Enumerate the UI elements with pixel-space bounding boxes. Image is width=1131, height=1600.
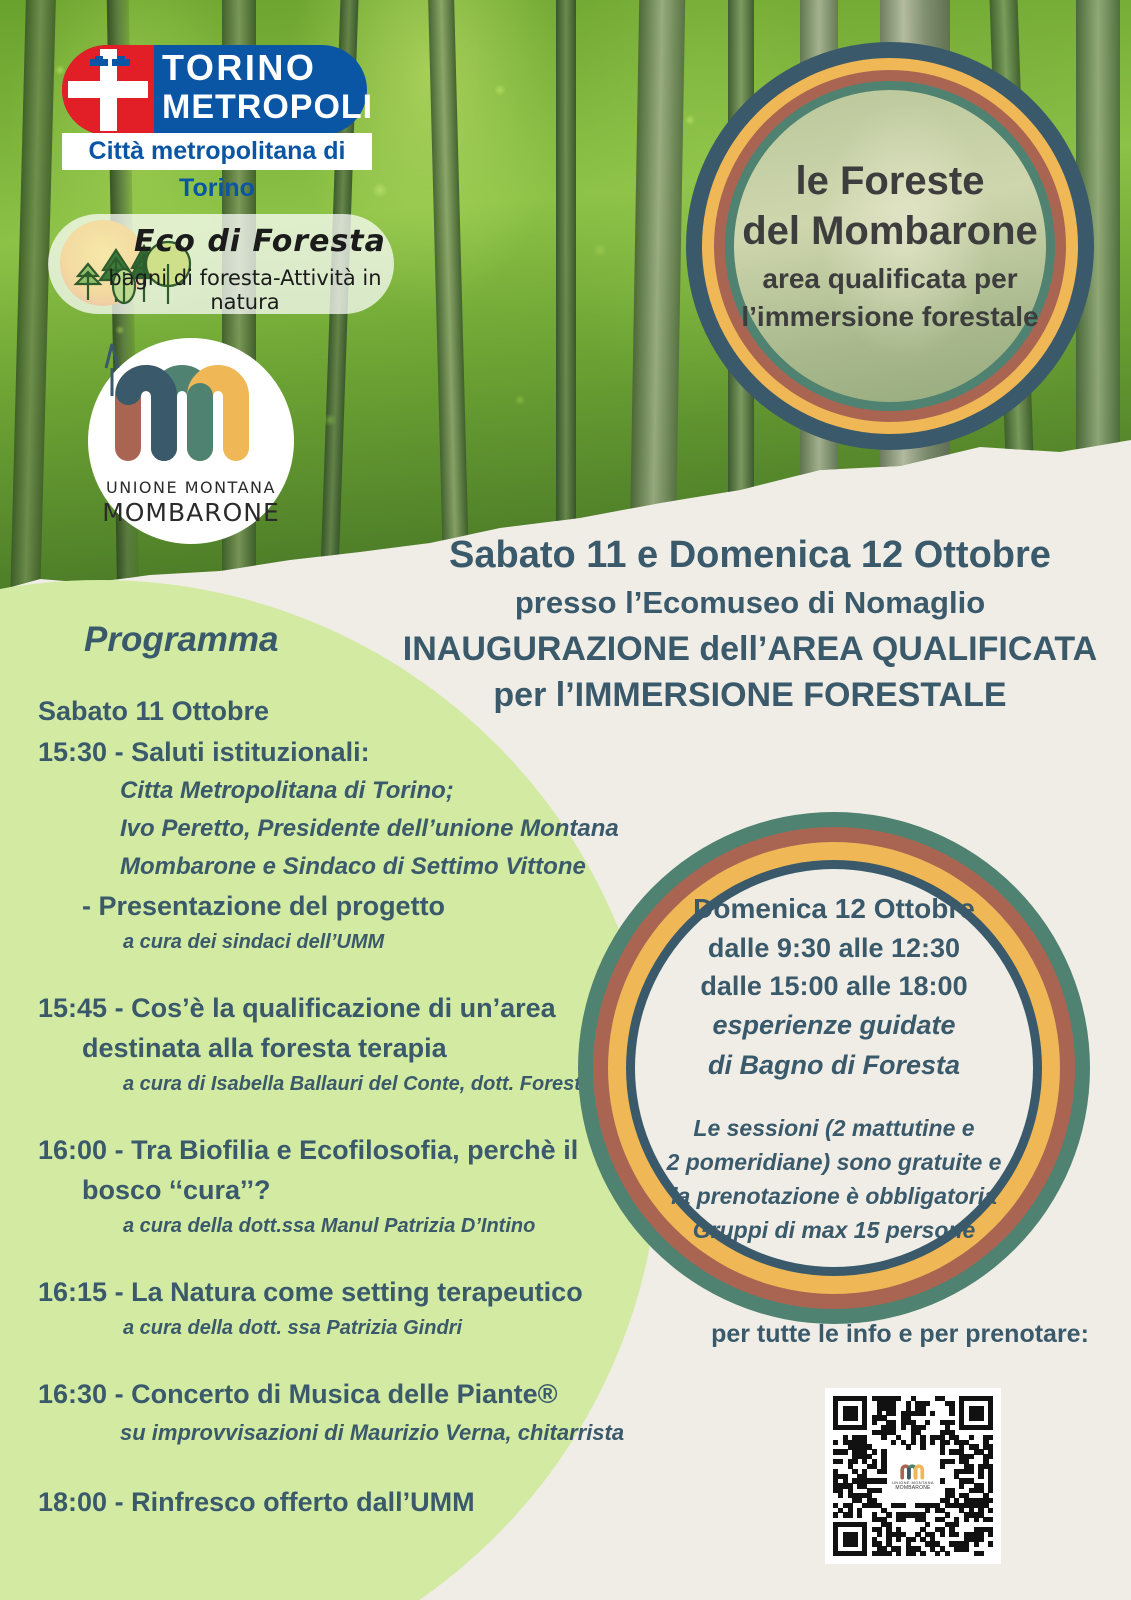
item-dash: - <box>115 1487 132 1517</box>
item-title: Saluti istituzionali: <box>131 737 370 767</box>
qr-code-matrix: UNIONE MONTANA MOMBARONE <box>833 1396 993 1556</box>
umm-monogram-icon <box>88 338 294 478</box>
sunday-core: Domenica 12 Ottobre dalle 9:30 alle 12:3… <box>635 869 1033 1267</box>
logo-torino-metropoli: TORINO METROPOLI Città metropolitana di … <box>62 45 372 170</box>
item-time: 16:00 <box>38 1135 107 1165</box>
torino-logo-line1: TORINO <box>162 48 316 88</box>
programma-item: 15:45 - Cos’è la qualificazione di un’ar… <box>38 988 638 1100</box>
item-time: 16:15 <box>38 1277 107 1307</box>
programma-item: 16:00 - Tra Biofilia e Ecofilosofia, per… <box>38 1130 638 1242</box>
item-detail: Ivo Peretto, Presidente dell’unione Mont… <box>38 810 638 848</box>
sunday-ring-gold: Domenica 12 Ottobre dalle 9:30 alle 12:3… <box>608 842 1060 1294</box>
torino-logo-line2: METROPOLI <box>162 87 373 127</box>
sunday-ring-teal: Domenica 12 Ottobre dalle 9:30 alle 12:3… <box>626 860 1042 1276</box>
spacer <box>38 958 638 988</box>
umm-monogram-icon <box>900 1462 926 1480</box>
item-dash: - <box>115 1277 132 1307</box>
item-title-cont: destinata alla foresta terapia <box>38 1028 638 1068</box>
sunday-day: Domenica 12 Ottobre <box>693 889 975 929</box>
badge-ring-gold: le Foreste del Mombarone area qualificat… <box>702 58 1078 434</box>
item-title: Tra Biofilia e Ecofilosofia, perchè il <box>131 1135 578 1165</box>
umm-logo-line1: UNIONE MONTANA <box>88 478 294 497</box>
programma-list: Sabato 11 Ottobre 15:30 - Saluti istituz… <box>38 690 638 1522</box>
sunday-ring-brick: Domenica 12 Ottobre dalle 9:30 alle 12:3… <box>593 827 1075 1309</box>
item-title: Rinfresco offerto dall’UMM <box>131 1487 475 1517</box>
sunday-note-line1: Le sessioni (2 mattutine e <box>693 1111 974 1145</box>
item-title: Concerto di Musica delle Piante® <box>131 1379 558 1409</box>
event-poster: TORINO METROPOLI Città metropolitana di … <box>0 0 1131 1600</box>
programma-item: 16:15 - La Natura come setting terapeuti… <box>38 1272 638 1344</box>
torino-cross-icon <box>68 81 148 98</box>
item-credit: a cura della dott. ssa Patrizia Gindri <box>38 1312 638 1344</box>
item-subitem: - Presentazione del progetto <box>38 886 638 926</box>
programma-day-label: Sabato 11 Ottobre <box>38 690 638 732</box>
eco-logo-name: Eco di Foresta <box>134 224 388 259</box>
item-detail: Citta Metropolitana di Torino; <box>38 772 638 810</box>
badge-ring-green: le Foreste del Mombarone area qualificat… <box>725 81 1055 411</box>
badge-title-line2: del Mombarone <box>742 206 1038 256</box>
qr-logo-line2: MOMBARONE <box>895 1485 930 1491</box>
booking-info-label: per tutte le info e per prenotare: <box>700 1320 1100 1349</box>
sunday-time-afternoon: dalle 15:00 alle 18:00 <box>700 967 967 1005</box>
torino-logo-subtitle: Città metropolitana di Torino <box>62 133 372 170</box>
item-credit: a cura di Isabella Ballauri del Conte, d… <box>38 1068 638 1100</box>
item-dash: - <box>115 1379 132 1409</box>
sunday-info-circle: Domenica 12 Ottobre dalle 9:30 alle 12:3… <box>578 812 1090 1324</box>
logo-eco-di-foresta: Eco di Foresta bagni di foresta-Attività… <box>48 214 394 314</box>
programma-item: 18:00 - Rinfresco offerto dall’UMM <box>38 1482 638 1522</box>
sunday-activity-line1: esperienze guidate <box>712 1005 955 1045</box>
sunday-activity-line2: di Bagno di Foresta <box>708 1045 960 1085</box>
item-detail: Mombarone e Sindaco di Settimo Vittone <box>38 848 638 886</box>
programma-item: 16:30 - Concerto di Musica delle Piante®… <box>38 1374 638 1452</box>
sunday-note-line2: 2 pomeridiane) sono gratuite e <box>667 1145 1002 1179</box>
item-time: 16:30 <box>38 1379 107 1409</box>
qr-center-logo: UNIONE MONTANA MOMBARONE <box>889 1452 937 1500</box>
spacer <box>38 1344 638 1374</box>
event-dates: Sabato 11 e Domenica 12 Ottobre <box>400 530 1100 580</box>
sunday-note-line3: la prenotazione è obbligatoria <box>671 1179 997 1213</box>
programma-item: 15:30 - Saluti istituzionali: Citta Metr… <box>38 732 638 958</box>
spacer <box>38 1100 638 1130</box>
qr-code[interactable]: UNIONE MONTANA MOMBARONE <box>825 1388 1001 1564</box>
sunday-time-morning: dalle 9:30 alle 12:30 <box>708 929 960 967</box>
spacer <box>38 1452 638 1482</box>
crown-icon <box>88 54 132 68</box>
spacer <box>38 1242 638 1272</box>
item-title: Cos’è la qualificazione di un’area <box>131 993 556 1023</box>
programma-title: Programma <box>84 620 279 660</box>
item-dash: - <box>115 993 132 1023</box>
item-credit: a cura della dott.ssa Manul Patrizia D’I… <box>38 1210 638 1242</box>
badge-core: le Foreste del Mombarone area qualificat… <box>734 90 1046 402</box>
item-time: 18:00 <box>38 1487 107 1517</box>
umm-logo-line2: MOMBARONE <box>88 498 294 527</box>
item-credit: a cura dei sindaci dell’UMM <box>38 926 638 958</box>
item-title: La Natura come setting terapeutico <box>131 1277 583 1307</box>
item-time: 15:45 <box>38 993 107 1023</box>
event-venue: presso l’Ecomuseo di Nomaglio <box>400 580 1100 626</box>
event-title-line1: INAUGURAZIONE dell’AREA QUALIFICATA <box>400 626 1100 672</box>
badge-ring-brick: le Foreste del Mombarone area qualificat… <box>714 70 1066 422</box>
badge-subtitle-line2: l’immersione forestale <box>741 298 1038 336</box>
item-credit: su improvvisazioni di Maurizio Verna, ch… <box>38 1414 638 1452</box>
eco-logo-subtitle: bagni di foresta-Attività in natura <box>100 266 390 314</box>
item-title-cont: bosco ‘‘cura’’? <box>38 1170 638 1210</box>
sunday-note-line4: Gruppi di max 15 persone <box>693 1213 975 1247</box>
item-dash: - <box>115 1135 132 1165</box>
item-time: 15:30 <box>38 737 107 767</box>
item-dash: - <box>115 737 132 767</box>
torino-pill: TORINO METROPOLI <box>62 45 367 135</box>
forest-area-badge: le Foreste del Mombarone area qualificat… <box>686 42 1094 450</box>
badge-subtitle-line1: area qualificata per <box>762 260 1017 298</box>
badge-title-line1: le Foreste <box>796 156 985 206</box>
logo-unione-montana-mombarone: UNIONE MONTANA MOMBARONE <box>88 338 294 544</box>
